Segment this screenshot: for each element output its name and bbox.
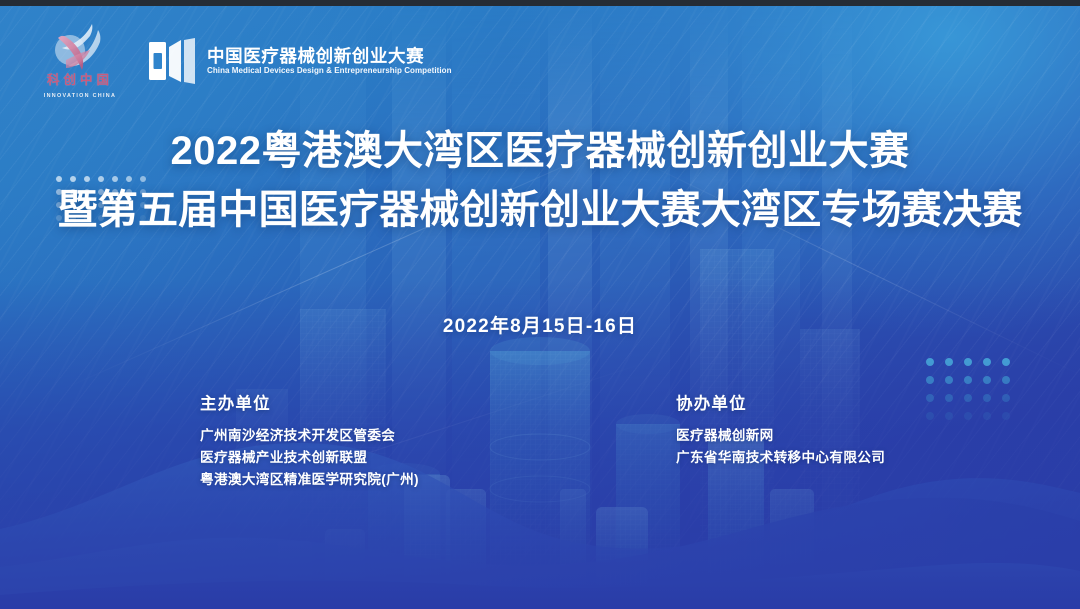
co-organizer-line: 广东省华南技术转移中心有限公司 (676, 447, 885, 469)
logo-innovation-china: 科创中国 INNOVATION CHINA (34, 22, 126, 100)
poster-canvas: 科创中国 INNOVATION CHINA 中国医疗器械创新创业大赛 China… (0, 0, 1080, 609)
innovation-china-cn: 科创中国 (34, 69, 126, 88)
header-logos: 科创中国 INNOVATION CHINA 中国医疗器械创新创业大赛 China… (34, 22, 457, 100)
host-organizer-line: 粤港澳大湾区精准医学研究院(广州) (200, 469, 419, 491)
main-title-block: 2022粤港澳大湾区医疗器械创新创业大赛 暨第五届中国医疗器械创新创业大赛大湾区… (0, 128, 1080, 234)
co-organizer-line: 医疗器械创新网 (676, 425, 885, 447)
innovation-china-bird-mark (46, 22, 114, 76)
open-door-icon (148, 38, 196, 84)
top-dark-bar (0, 0, 1080, 6)
wave-graphic (0, 389, 1080, 609)
host-organizer-heading: 主办单位 (200, 390, 419, 414)
innovation-china-en: INNOVATION CHINA (34, 93, 126, 99)
logo-competition: 中国医疗器械创新创业大赛 China Medical Devices Desig… (148, 38, 457, 84)
dot-grid-right (926, 358, 1021, 430)
host-organizer-block: 主办单位 广州南沙经济技术开发区管委会 医疗器械产业技术创新联盟 粤港澳大湾区精… (200, 390, 419, 491)
competition-title-cn: 中国医疗器械创新创业大赛 (207, 47, 457, 65)
title-line-1: 2022粤港澳大湾区医疗器械创新创业大赛 (0, 128, 1080, 175)
title-line-2: 暨第五届中国医疗器械创新创业大赛大湾区专场赛决赛 (0, 187, 1080, 234)
host-organizer-line: 广州南沙经济技术开发区管委会 (200, 425, 419, 447)
event-date: 2022年8月15日-16日 (0, 311, 1080, 338)
competition-title-en: China Medical Devices Design & Entrepren… (207, 67, 452, 76)
co-organizer-block: 协办单位 医疗器械创新网 广东省华南技术转移中心有限公司 (676, 390, 885, 469)
host-organizer-line: 医疗器械产业技术创新联盟 (200, 447, 419, 469)
co-organizer-heading: 协办单位 (676, 390, 885, 414)
